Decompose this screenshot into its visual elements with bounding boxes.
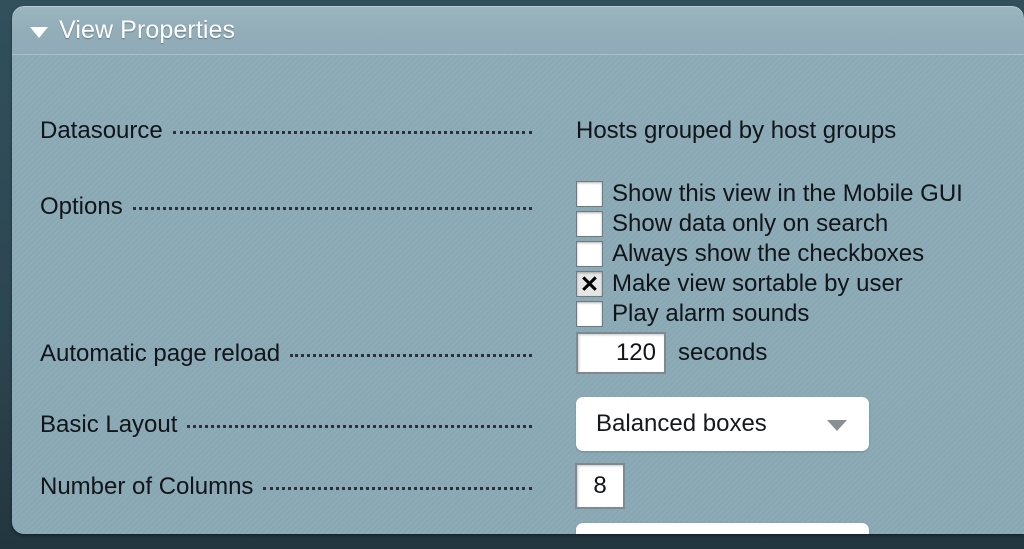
- page-reload-unit: seconds: [678, 332, 767, 374]
- view-properties-panel: View Properties Datasource Hosts grouped…: [12, 6, 1024, 534]
- option-make-view-sortable[interactable]: ✕ Make view sortable by user: [576, 269, 963, 299]
- option-label: Play alarm sounds: [612, 300, 809, 328]
- checkbox-play-alarm-sounds[interactable]: [576, 301, 603, 327]
- option-label: Show data only on search: [612, 210, 888, 238]
- page-reload-value-cell: seconds: [532, 332, 767, 374]
- datasource-value-cell: Hosts grouped by host groups: [532, 117, 896, 145]
- option-label: Always show the checkboxes: [612, 240, 924, 268]
- dotted-leader: [133, 207, 532, 210]
- options-label: Options: [40, 193, 123, 221]
- basic-layout-select[interactable]: Balanced boxes: [576, 397, 869, 451]
- panel-header[interactable]: View Properties: [12, 6, 1024, 55]
- basic-layout-value-cell: Balanced boxes: [532, 397, 869, 451]
- option-show-data-only-on-search[interactable]: Show data only on search: [576, 209, 963, 239]
- triangle-down-icon[interactable]: [30, 27, 48, 38]
- number-of-columns-input[interactable]: [575, 463, 625, 509]
- row-automatic-page-reload: Automatic page reload seconds: [12, 332, 1024, 374]
- row-basic-layout: Basic Layout Balanced boxes: [12, 397, 1024, 451]
- dotted-leader: [290, 354, 532, 357]
- column-headers-label-cell: Column Headers: [12, 523, 532, 534]
- dotted-leader: [263, 487, 532, 490]
- panel-body: Datasource Hosts grouped by host groups …: [12, 55, 1024, 534]
- datasource-label: Datasource: [40, 117, 163, 145]
- checkbox-show-in-mobile-gui[interactable]: [576, 181, 603, 207]
- options-checkbox-list: Show this view in the Mobile GUI Show da…: [576, 179, 963, 329]
- datasource-label-cell: Datasource: [12, 117, 532, 145]
- dotted-leader: [187, 425, 532, 428]
- checkbox-show-data-only-on-search[interactable]: [576, 211, 603, 237]
- checkbox-always-show-checkboxes[interactable]: [576, 241, 603, 267]
- basic-layout-label: Basic Layout: [40, 411, 177, 439]
- checkbox-make-view-sortable[interactable]: ✕: [576, 271, 603, 297]
- number-of-columns-value-cell: [532, 463, 625, 509]
- number-of-columns-label-cell: Number of Columns: [12, 463, 532, 501]
- page-reload-label-cell: Automatic page reload: [12, 332, 532, 368]
- app-background: View Properties Datasource Hosts grouped…: [0, 0, 1024, 549]
- row-options: Options Show this view in the Mobile GUI…: [12, 179, 1024, 329]
- panel-title: View Properties: [59, 16, 235, 45]
- column-headers-value-cell: once per group: [532, 523, 869, 534]
- datasource-value: Hosts grouped by host groups: [576, 117, 896, 144]
- row-number-of-columns: Number of Columns: [12, 463, 1024, 509]
- option-show-in-mobile-gui[interactable]: Show this view in the Mobile GUI: [576, 179, 963, 209]
- option-play-alarm-sounds[interactable]: Play alarm sounds: [576, 299, 963, 329]
- option-label: Show this view in the Mobile GUI: [612, 180, 963, 208]
- basic-layout-selected-value: Balanced boxes: [576, 410, 767, 438]
- row-column-headers: Column Headers once per group: [12, 523, 1024, 534]
- dotted-leader: [173, 131, 532, 134]
- number-of-columns-label: Number of Columns: [40, 473, 253, 501]
- page-reload-input[interactable]: [576, 332, 666, 374]
- row-datasource: Datasource Hosts grouped by host groups: [12, 117, 1024, 145]
- option-always-show-checkboxes[interactable]: Always show the checkboxes: [576, 239, 963, 269]
- option-label: Make view sortable by user: [612, 270, 903, 298]
- options-value-cell: Show this view in the Mobile GUI Show da…: [532, 179, 963, 329]
- page-reload-label: Automatic page reload: [40, 340, 280, 368]
- basic-layout-label-cell: Basic Layout: [12, 397, 532, 439]
- chevron-down-icon[interactable]: [827, 420, 847, 431]
- column-headers-select[interactable]: once per group: [576, 523, 869, 534]
- options-label-cell: Options: [12, 179, 532, 221]
- check-x-icon: ✕: [580, 273, 599, 296]
